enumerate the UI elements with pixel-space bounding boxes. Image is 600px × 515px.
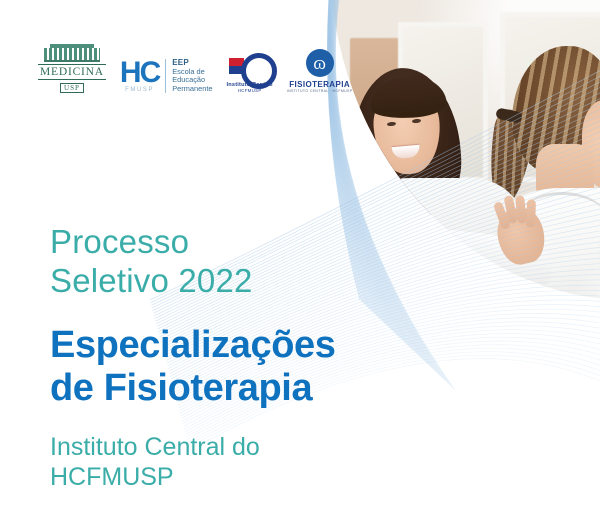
photo-image xyxy=(330,0,600,300)
logo-medicina-title: MEDICINA xyxy=(38,64,106,80)
logo-divider xyxy=(165,59,166,93)
logo-instituto-central: Instituto Central HCFMUSP xyxy=(227,53,273,93)
photo-soft-edge xyxy=(330,200,600,300)
logo-fisioterapia: ɷ FISIOTERAPIA INSTITUTO CENTRAL · HCFMU… xyxy=(287,49,353,93)
ring-shape xyxy=(241,53,277,89)
promotional-banner: MEDICINA USP HC FMUSP EEP Escola de Educ… xyxy=(0,0,600,515)
page-title: Especializações de Fisioterapia xyxy=(50,324,336,410)
institution-text: Instituto Central do HCFMUSP xyxy=(50,432,336,492)
copy-block: Processo Seletivo 2022 Especializações d… xyxy=(50,222,336,492)
spine-figure-icon: ɷ xyxy=(306,49,334,77)
logo-fisioterapia-subtitle: INSTITUTO CENTRAL · HCFMUSP xyxy=(287,89,353,93)
logo-medicina-usp: MEDICINA USP xyxy=(38,48,106,93)
logo-hc-mark-sub: FMUSP xyxy=(125,87,154,93)
logo-hc-mark: HC xyxy=(120,60,159,86)
ring-and-bars-icon xyxy=(229,53,271,79)
building-facade-icon xyxy=(44,48,100,62)
logo-eep-line-3: Permanente xyxy=(172,85,212,94)
logo-hc-eep: HC FMUSP EEP Escola de Educação Permanen… xyxy=(120,59,213,93)
physiotherapy-session-photo xyxy=(330,0,600,300)
logo-fisioterapia-title: FISIOTERAPIA xyxy=(289,80,350,89)
kicker-text: Processo Seletivo 2022 xyxy=(50,222,336,300)
spine-glyph: ɷ xyxy=(313,54,326,73)
logo-medicina-subtitle: USP xyxy=(60,83,84,93)
logo-row: MEDICINA USP HC FMUSP EEP Escola de Educ… xyxy=(38,48,352,93)
